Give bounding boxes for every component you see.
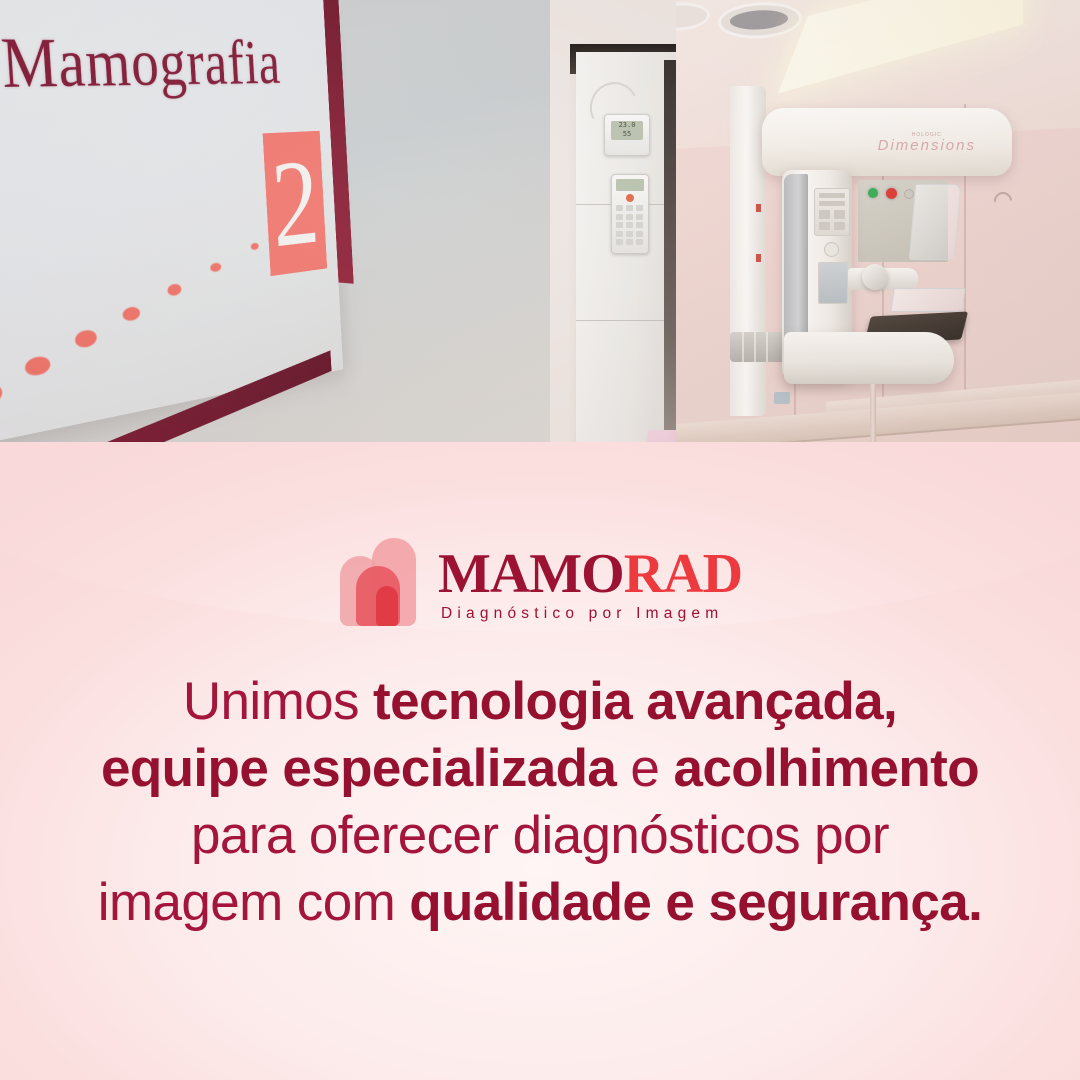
logo-wordmark: MAMORAD Diagnóstico por Imagem — [438, 545, 742, 623]
thermo-value-top: 23.0 — [619, 121, 636, 129]
headline-text: Unimos tecnologia avançada,equipe especi… — [40, 668, 1040, 936]
content-panel: MAMORAD Diagnóstico por Imagem Unimos te… — [0, 520, 1080, 1080]
machine-brand-name: Dimensions — [878, 137, 976, 154]
machine-side-cabinet — [730, 86, 766, 416]
machine-rotary-knob[interactable] — [824, 242, 839, 257]
headline-line-4: imagem com qualidade e segurança. — [40, 869, 1040, 936]
wall-sign-plate: Mamografia 2 — [0, 0, 343, 447]
machine-gantry-head: HOLOGIC Dimensions — [762, 108, 1012, 176]
thermo-hygrometer: 23.0 55 — [604, 114, 650, 156]
machine-arm-joint — [862, 264, 888, 290]
logo-word-mamo: MAMO — [438, 543, 624, 605]
headline-line-2: equipe especializada e acolhimento — [40, 735, 1040, 802]
keypad-alarm-button[interactable] — [626, 194, 634, 202]
mammography-machine: HOLOGIC Dimensions — [740, 96, 1080, 456]
machine-brand-label: HOLOGIC Dimensions — [878, 132, 976, 154]
machine-display-screen — [818, 262, 848, 304]
machine-face-shield — [909, 184, 962, 260]
logo-tagline: Diagnóstico por Imagem — [441, 605, 723, 623]
machine-floor-outlet — [774, 392, 790, 404]
mamorad-petal-mark-icon — [338, 538, 418, 630]
machine-duct — [730, 332, 790, 362]
headline-line-3: para oferecer diagnósticos por — [40, 802, 1040, 869]
machine-control-panel[interactable] — [814, 188, 850, 236]
wall-keypad[interactable] — [611, 174, 649, 254]
machine-secondary-button[interactable] — [904, 189, 914, 199]
ceiling-speaker-vent — [718, 0, 802, 40]
machine-green-button[interactable] — [868, 188, 878, 198]
brand-logo: MAMORAD Diagnóstico por Imagem — [0, 538, 1080, 630]
logo-word-rad: RAD — [624, 543, 742, 605]
machine-base-housing — [784, 332, 954, 384]
thermo-value-bottom: 55 — [623, 130, 631, 138]
headline-line-1: Unimos tecnologia avançada, — [40, 668, 1040, 735]
machine-compression-paddle — [890, 288, 965, 312]
keypad-display — [616, 179, 644, 191]
machine-red-button[interactable] — [886, 188, 897, 199]
ceiling-vent-secondary — [676, 1, 710, 32]
poster-canvas: Mamografia 2 23.0 55 — [0, 0, 1080, 1080]
thermo-display: 23.0 55 — [611, 121, 643, 140]
keypad-key-grid[interactable] — [616, 205, 644, 249]
